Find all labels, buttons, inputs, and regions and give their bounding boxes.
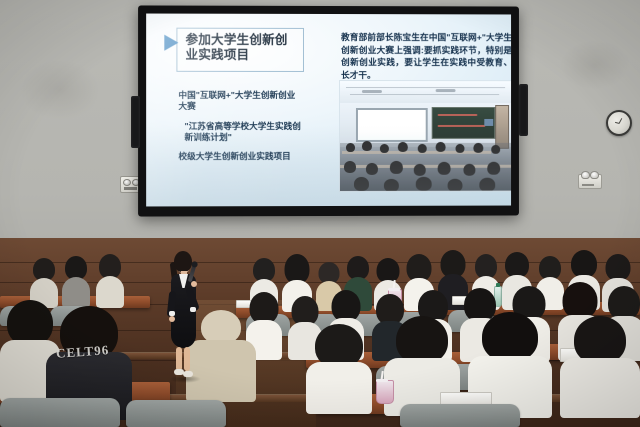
wall-clock-icon	[606, 110, 632, 136]
head	[608, 286, 640, 320]
torso	[96, 276, 124, 308]
photo-head	[438, 162, 451, 175]
photo-head	[479, 178, 495, 192]
presenter-leg-left	[176, 347, 182, 371]
chair	[400, 404, 520, 427]
audience-person	[560, 316, 640, 412]
presenter-hand-left	[169, 316, 175, 322]
panel-label-strip	[124, 187, 137, 190]
list-item: 校级大学生创新创业实践项目	[178, 151, 303, 163]
head	[563, 282, 598, 319]
emergency-lamp-left	[581, 171, 590, 179]
torso	[62, 277, 90, 308]
photo-head	[491, 145, 500, 154]
slide-title: 参加大学生创新创业实践项目	[185, 33, 298, 63]
photo-head	[456, 144, 465, 153]
head	[606, 254, 631, 281]
presenter	[163, 251, 203, 397]
projection-screen[interactable]: 参加大学生创新创业实践项目 中国"互联网+"大学生创新创业大赛 "江苏省高等学校…	[138, 5, 519, 216]
screen-display-area[interactable]: 参加大学生创新创业实践项目 中国"互联网+"大学生创新创业大赛 "江苏省高等学校…	[146, 14, 511, 207]
drink-cup	[376, 380, 394, 404]
photo-head	[436, 142, 446, 152]
audience-person	[30, 258, 58, 306]
photo-head	[366, 163, 378, 175]
head	[482, 312, 538, 362]
blackboard-text-line	[438, 125, 486, 127]
ceiling-fan-icon	[362, 90, 382, 93]
photo-head	[416, 177, 432, 191]
presenter-hand-right	[191, 281, 197, 287]
audience-person	[96, 254, 124, 306]
slide-title-box: 参加大学生创新创业实践项目	[176, 28, 304, 72]
photo-head	[448, 179, 463, 192]
audience-person	[306, 324, 372, 406]
photo-head	[473, 143, 483, 153]
chair	[126, 400, 226, 427]
screen-speaker-right	[519, 84, 528, 136]
emergency-lamp-right	[590, 171, 599, 179]
photo-head	[390, 161, 403, 174]
photo-head	[487, 162, 500, 175]
arrow-marker-icon	[164, 35, 178, 51]
presenter-cuff-right	[190, 307, 196, 312]
emergency-light-body	[582, 184, 594, 186]
head	[574, 316, 626, 364]
lecture-hall-photo: 参加大学生创新创业实践项目 中国"互联网+"大学生创新创业大赛 "江苏省高等学校…	[0, 0, 640, 427]
panel-knob-left[interactable]	[123, 179, 131, 186]
screen-speaker-left	[131, 96, 140, 148]
ceiling-fan-icon	[436, 89, 456, 92]
presenter-hair	[174, 251, 192, 272]
photo-desk-row	[342, 151, 491, 154]
blackboard-text-line	[438, 114, 478, 116]
photo-head	[380, 144, 389, 153]
photo-head	[463, 164, 475, 176]
photo-head	[362, 141, 372, 151]
photo-head	[344, 161, 356, 173]
photo-head	[418, 144, 427, 153]
torso	[560, 358, 640, 418]
torso	[306, 362, 372, 414]
head	[571, 250, 597, 278]
photo-head	[384, 179, 399, 192]
photo-head	[414, 164, 426, 176]
list-item: "江苏省高等学校大学生实践创新训练计划"	[178, 121, 303, 144]
photo-projection-screen	[356, 108, 428, 142]
chair	[0, 398, 120, 427]
audience-person	[62, 256, 90, 306]
head	[201, 310, 241, 344]
photo-head	[354, 177, 369, 191]
list-item: 中国"互联网+"大学生创新创业大赛	[178, 90, 303, 113]
emergency-light-icon	[578, 174, 602, 189]
slide-embedded-photo	[339, 80, 511, 192]
presenter-leg-right	[184, 347, 190, 371]
slide-bullet-list: 中国"互联网+"大学生创新创业大赛 "江苏省高等学校大学生实践创新训练计划" 校…	[178, 90, 303, 171]
presenter-shoe-right	[183, 371, 193, 377]
presentation-slide: 参加大学生创新创业实践项目 中国"互联网+"大学生创新创业大赛 "江苏省高等学校…	[146, 14, 511, 207]
ceiling-line	[350, 94, 499, 95]
ceiling-line	[346, 87, 505, 88]
head	[396, 316, 448, 364]
slide-headnote: 教育部前部长陈宝生在中国"互联网+"大学生创新创业大赛上强调:要抓实践环节，特别…	[341, 31, 511, 81]
photo-head	[346, 143, 355, 152]
photo-head	[398, 142, 408, 152]
photo-wall-poster	[484, 119, 493, 126]
